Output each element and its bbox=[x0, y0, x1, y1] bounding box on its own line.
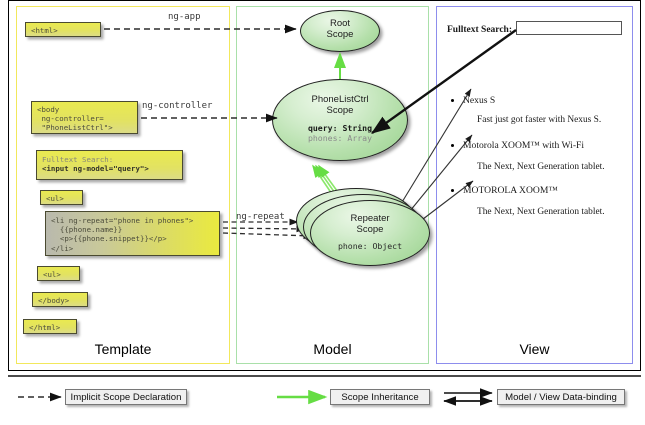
scope-root-title-2: Scope bbox=[301, 29, 379, 40]
view-phone-name-1: Motorola XOOM™ with Wi-Fi bbox=[463, 140, 584, 151]
legend-label-model-view-data-binding: Model / View Data-binding bbox=[497, 389, 625, 405]
view-phone-snippet-2: The Next, Next Generation tablet. bbox=[477, 207, 605, 217]
view-phone-snippet-0: Fast just got faster with Nexus S. bbox=[477, 115, 601, 125]
template-li-line4: </li> bbox=[51, 244, 73, 253]
bullet-icon bbox=[451, 189, 454, 192]
scope-repeater-title-2: Scope bbox=[311, 224, 429, 235]
template-box-html-open: <html> bbox=[25, 22, 101, 37]
template-box-html-close: </html> bbox=[23, 319, 77, 334]
edge-label-ng-controller: ng-controller bbox=[142, 101, 212, 111]
scope-phonelistctrl-title-1: PhoneListCtrl bbox=[273, 94, 407, 105]
column-model-label: Model bbox=[237, 341, 428, 357]
view-content: Fulltext Search: Nexus S Fast just got f… bbox=[437, 7, 632, 363]
legend-label-implicit-scope-declaration: Implicit Scope Declaration bbox=[65, 389, 187, 405]
scope-phonelistctrl: PhoneListCtrl Scope query: String phones… bbox=[272, 79, 408, 161]
template-box-body-tag: <body ng-controller= "PhoneListCtrl"> bbox=[31, 101, 138, 134]
template-fts-line2: <input ng-model="query"> bbox=[42, 164, 149, 173]
scope-root-title-1: Root bbox=[301, 18, 379, 29]
template-box-ul-close: <ul> bbox=[37, 266, 80, 281]
column-view-label: View bbox=[437, 341, 632, 357]
scope-phonelistctrl-prop-1: phones: Array bbox=[273, 133, 407, 143]
scope-phonelistctrl-prop-0: query: String bbox=[273, 123, 407, 133]
scope-root: Root Scope bbox=[300, 10, 380, 52]
template-box-ul-open: <ul> bbox=[40, 190, 83, 205]
scope-repeater-prop-0: phone: Object bbox=[311, 241, 429, 251]
diagram-root: Template Model Fulltext Search: Nexus S … bbox=[0, 0, 645, 425]
scope-repeater: Repeater Scope phone: Object bbox=[310, 200, 430, 266]
column-template: Template bbox=[16, 6, 230, 364]
template-li-line2: {{phone.name}} bbox=[60, 225, 122, 234]
template-li-line1: <li ng-repeat="phone in phones"> bbox=[51, 216, 193, 225]
column-model: Model bbox=[236, 6, 429, 364]
view-fulltext-search-label: Fulltext Search: bbox=[447, 25, 512, 35]
template-box-body-close: </body> bbox=[32, 292, 88, 307]
template-li-line3: <p>{{phone.snippet}}</p> bbox=[60, 234, 167, 243]
bullet-icon bbox=[451, 99, 454, 102]
bullet-icon bbox=[451, 144, 454, 147]
column-template-label: Template bbox=[17, 341, 229, 357]
view-phone-snippet-1: The Next, Next Generation tablet. bbox=[477, 162, 605, 172]
scope-phonelistctrl-title-2: Scope bbox=[273, 105, 407, 116]
legend-label-scope-inheritance: Scope Inheritance bbox=[330, 389, 430, 405]
view-fulltext-search-input[interactable] bbox=[516, 21, 622, 35]
scope-repeater-title-1: Repeater bbox=[311, 213, 429, 224]
edge-label-ng-app: ng-app bbox=[168, 12, 201, 22]
template-fts-line1: Fulltext Search: bbox=[42, 155, 113, 164]
template-box-li-ng-repeat: <li ng-repeat="phone in phones"> {{phone… bbox=[45, 211, 220, 256]
column-view: Fulltext Search: Nexus S Fast just got f… bbox=[436, 6, 633, 364]
template-box-fulltext-search: Fulltext Search: <input ng-model="query"… bbox=[36, 150, 183, 180]
view-phone-name-0: Nexus S bbox=[463, 95, 495, 106]
edge-label-ng-repeat: ng-repeat bbox=[236, 212, 285, 222]
view-phone-name-2: MOTOROLA XOOM™ bbox=[463, 185, 558, 196]
